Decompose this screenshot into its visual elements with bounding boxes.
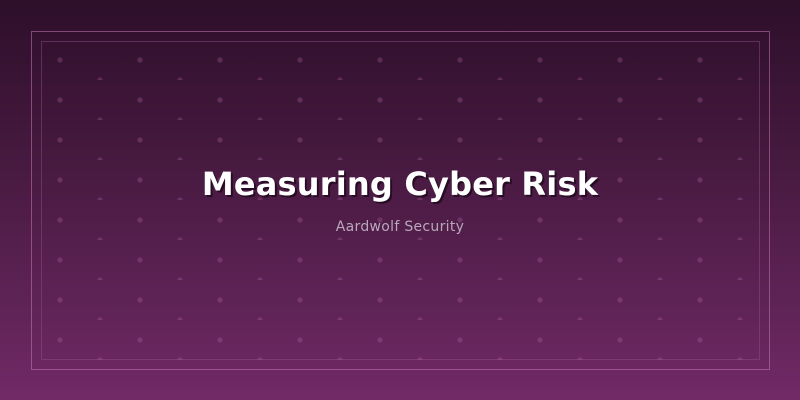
title-slide: Measuring Cyber Risk Aardwolf Security	[0, 0, 800, 400]
title-block: Measuring Cyber Risk Aardwolf Security	[0, 0, 800, 400]
slide-title: Measuring Cyber Risk	[202, 165, 598, 203]
slide-subtitle: Aardwolf Security	[336, 219, 464, 235]
